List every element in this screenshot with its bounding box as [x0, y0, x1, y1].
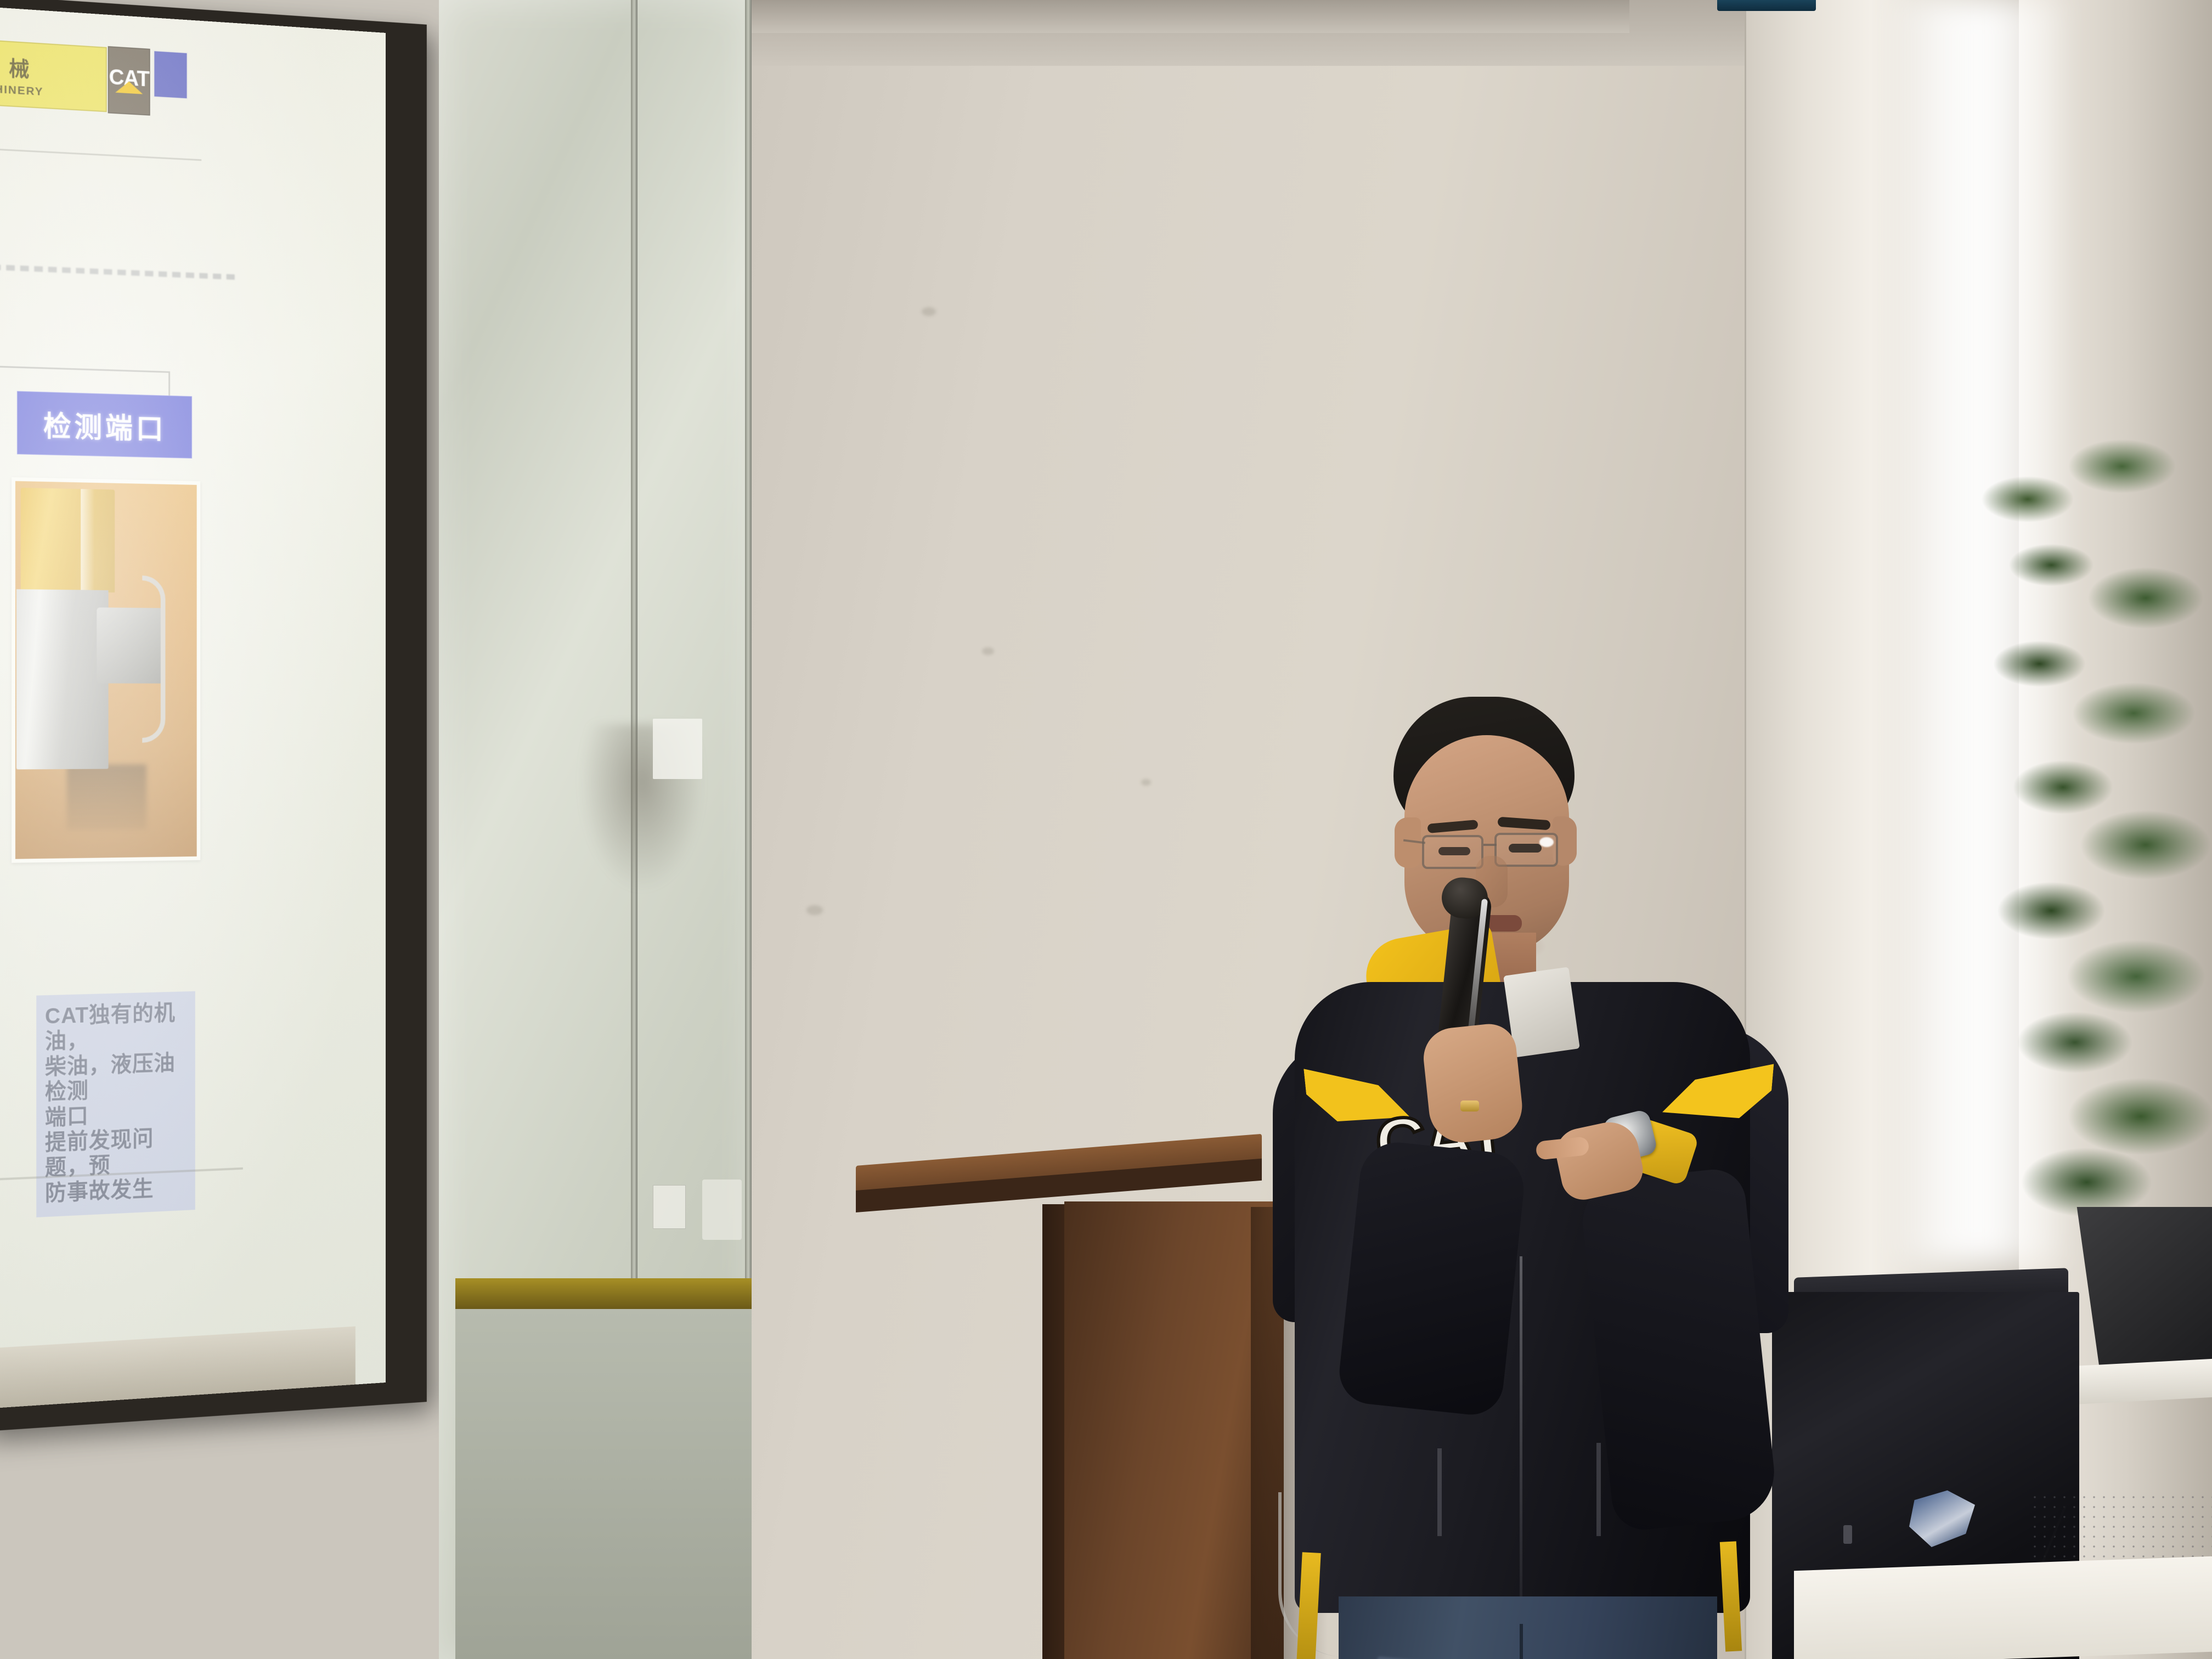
- wall-blemish: [922, 307, 936, 316]
- wall-blemish: [1141, 779, 1151, 786]
- glass-white-plate: [653, 719, 702, 779]
- slide-header-banner: 行 机 械 G HONG MACHINERY: [0, 35, 107, 112]
- slide-blue-badge: [153, 50, 188, 99]
- glasses-lens-left: [1422, 835, 1483, 869]
- glasses-bridge: [1483, 844, 1497, 846]
- projection-screen: 行 机 械 G HONG MACHINERY CAT 步 检测端口: [0, 5, 386, 1410]
- wedding-ring: [1460, 1101, 1479, 1111]
- photo-scene: 行 机 械 G HONG MACHINERY CAT 步 检测端口: [0, 0, 2212, 1659]
- retaining-clip: [142, 575, 165, 743]
- presenter-jeans: [1339, 1596, 1717, 1659]
- cat-triangle-icon: [115, 81, 143, 94]
- part-shadow: [67, 764, 146, 830]
- yellow-cap: [21, 488, 115, 592]
- hoodie-pocket-left: [1437, 1448, 1442, 1536]
- slide-body-microtext: [0, 261, 238, 280]
- metal-fitting: [16, 589, 109, 769]
- presenter-hand-left: [1420, 1022, 1525, 1146]
- ceiling-soffit: [730, 0, 1629, 33]
- slide-photo-test-port: [12, 477, 200, 863]
- speaker-screw: [1843, 1525, 1852, 1544]
- hoodie-zipper: [1520, 1256, 1522, 1596]
- presenter: CAT: [1212, 697, 1832, 1659]
- slide-header-cn: 行 机 械: [0, 45, 106, 87]
- slide-banner-detection-port: 检测端口: [17, 391, 192, 459]
- jeans-seam: [1520, 1624, 1523, 1659]
- wall-outlet-2[interactable]: [702, 1180, 742, 1240]
- wall-outlet[interactable]: [653, 1185, 686, 1229]
- slide-callout-main: CAT独有的机油， 柴油，液压油检测 端口 提前发现问题，预 防事故发生: [36, 991, 195, 1217]
- side-table-lower: [1794, 1556, 2212, 1659]
- slide-divider: [0, 144, 201, 161]
- ceiling-fixture: [1717, 0, 1816, 11]
- presenter-arm-left: [1336, 1139, 1528, 1418]
- slide-cat-logo: CAT: [108, 46, 150, 116]
- partition-lower-panel: [455, 1309, 752, 1659]
- hoodie-pocket-right: [1596, 1443, 1601, 1536]
- potted-plant-foliage: [1980, 417, 2212, 1240]
- lens-glint: [1539, 837, 1554, 847]
- wall-blemish: [806, 905, 823, 915]
- cap-highlight: [81, 489, 94, 590]
- partition-trim: [455, 1278, 752, 1309]
- wall-blemish: [982, 647, 994, 655]
